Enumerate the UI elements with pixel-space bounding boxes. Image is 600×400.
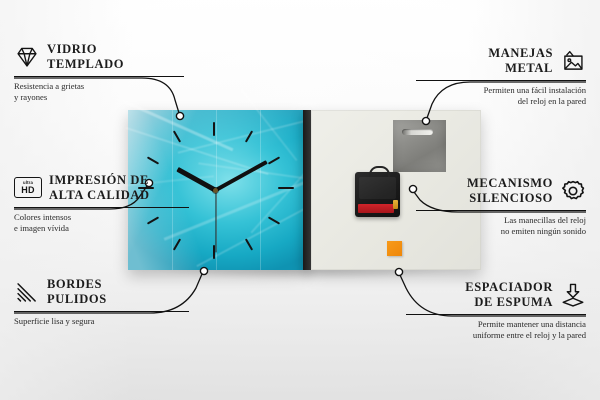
callout-title: MANEJAS METAL <box>488 46 553 76</box>
callout-title: IMPRESIÓN DE ALTA CALIDAD <box>49 173 150 203</box>
connector-dot-tempered-glass <box>176 112 183 119</box>
callout-rule <box>416 210 586 211</box>
callout-rule <box>416 80 586 81</box>
callout-silent-mechanism: MECANISMO SILENCIOSO Las manecillas del … <box>416 176 586 238</box>
gear-icon <box>560 178 586 204</box>
diagonal-lines-icon <box>14 279 40 305</box>
callout-high-quality-print: ultra HD IMPRESIÓN DE ALTA CALIDAD Color… <box>14 173 189 235</box>
callout-title: MECANISMO SILENCIOSO <box>467 176 553 206</box>
diamond-icon <box>14 44 40 70</box>
callout-rule <box>14 207 189 208</box>
callout-rule <box>14 76 184 77</box>
callout-rule <box>406 314 586 315</box>
callout-title: ESPACIADOR DE ESPUMA <box>465 280 553 310</box>
callout-description: Colores intensos e imagen vívida <box>14 212 189 235</box>
press-down-pad-icon <box>560 282 586 308</box>
callout-description: Permiten una fácil instalación del reloj… <box>416 85 586 108</box>
callout-title: BORDES PULIDOS <box>47 277 107 307</box>
connector-dot-metal-handles <box>422 117 429 124</box>
framed-picture-hanging-icon <box>560 48 586 74</box>
ultra-hd-badge-icon: ultra HD <box>14 177 42 198</box>
connector-dot-polished-edges <box>200 267 207 274</box>
callout-metal-handles: MANEJAS METAL Permiten una fácil instala… <box>416 46 586 108</box>
hd-badge-large-text: HD <box>21 186 35 195</box>
callout-description: Resistencia a grietas y rayones <box>14 81 184 104</box>
callout-foam-spacer: ESPACIADOR DE ESPUMA Permite mantener un… <box>406 280 586 342</box>
callout-polished-edges: BORDES PULIDOS Superficie lisa y segura <box>14 277 189 327</box>
callout-rule <box>14 311 189 312</box>
connector-dot-foam-spacer <box>395 268 402 275</box>
callout-title: VIDRIO TEMPLADO <box>47 42 124 72</box>
callout-tempered-glass: VIDRIO TEMPLADO Resistencia a grietas y … <box>14 42 184 104</box>
callout-description: Las manecillas del reloj no emiten ningú… <box>416 215 586 238</box>
infographic-canvas: VIDRIO TEMPLADO Resistencia a grietas y … <box>0 0 600 400</box>
callout-description: Superficie lisa y segura <box>14 316 189 328</box>
callout-description: Permite mantener una distancia uniforme … <box>406 319 586 342</box>
